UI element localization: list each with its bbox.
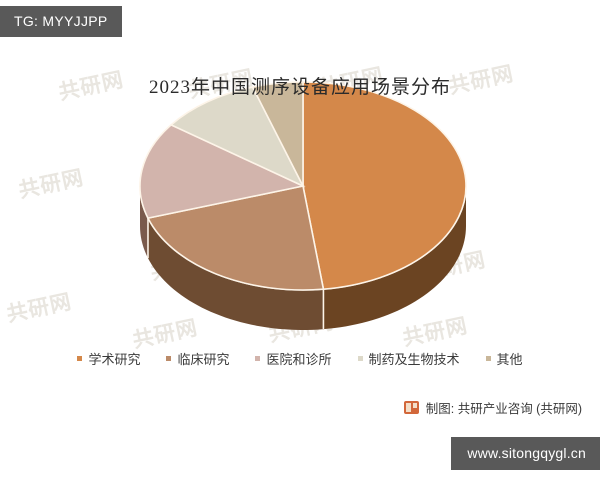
- legend-swatch-icon: [166, 356, 171, 361]
- legend-item-2[interactable]: 医院和诊所: [255, 349, 331, 368]
- legend-item-0[interactable]: 学术研究: [77, 349, 140, 368]
- pie-tops: [140, 82, 466, 290]
- legend-item-1[interactable]: 临床研究: [166, 349, 229, 368]
- legend-label: 临床研究: [177, 349, 229, 368]
- legend-item-3[interactable]: 制药及生物技术: [358, 349, 460, 368]
- chart-title: 2023年中国测序设备应用场景分布: [0, 72, 600, 99]
- legend-item-4[interactable]: 其他: [486, 349, 523, 368]
- legend-swatch-icon: [77, 356, 82, 361]
- legend-label: 学术研究: [88, 349, 140, 368]
- gongyan-logo-icon: [404, 401, 419, 414]
- legend-swatch-icon: [358, 356, 363, 361]
- credit-text: 制图: 共研产业咨询 (共研网): [426, 398, 582, 417]
- legend-swatch-icon: [486, 356, 491, 361]
- legend-swatch-icon: [255, 356, 260, 361]
- chart-legend: 学术研究临床研究医院和诊所制药及生物技术其他: [0, 349, 600, 368]
- legend-label: 医院和诊所: [266, 349, 331, 368]
- url-tag: www.sitongqygl.cn: [451, 437, 600, 470]
- legend-label: 其他: [497, 349, 523, 368]
- credit-line: 制图: 共研产业咨询 (共研网): [404, 398, 582, 417]
- legend-label: 制药及生物技术: [369, 349, 460, 368]
- tg-tag: TG: MYYJJPP: [0, 6, 122, 37]
